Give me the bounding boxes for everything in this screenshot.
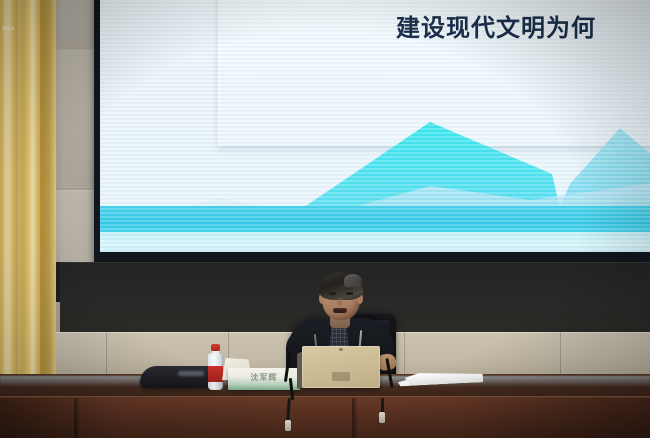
slide-title: 建设现代文明为何 — [396, 8, 596, 43]
laptop — [302, 346, 380, 390]
bottle-cap — [211, 344, 220, 351]
skirting-seam — [106, 332, 107, 378]
nose — [337, 297, 342, 305]
table-seam — [352, 398, 357, 438]
bottle-label-text: 饮用水 — [1, 26, 16, 32]
bottle-label — [208, 366, 223, 382]
screen-bottom-glow — [100, 246, 650, 252]
laptop-camera — [339, 348, 343, 351]
curtain-fold — [18, 0, 23, 438]
eye-left — [329, 292, 336, 295]
curtain-fold — [4, 0, 11, 438]
mouth — [333, 308, 347, 313]
projection-screen: 建设现代文明为何 — [100, 0, 650, 252]
cable-plug — [379, 412, 385, 423]
laptop-lid — [302, 346, 380, 388]
table-seam — [74, 398, 79, 438]
eyebrow-left — [328, 288, 336, 290]
eyebrow-right — [345, 288, 353, 290]
skirting-seam — [560, 332, 561, 378]
projection-screen-frame: 建设现代文明为何 — [94, 0, 650, 266]
conference-room-photo: 建设现代文明为何 饮用水 沈军辉 — [0, 0, 650, 438]
cable-plug — [285, 420, 291, 431]
laptop-logo — [332, 372, 350, 381]
bag-highlight — [178, 371, 204, 376]
table-front-shading — [0, 398, 650, 438]
curtain-fold — [31, 0, 37, 438]
eye-right — [346, 292, 353, 295]
hair-highlight — [344, 274, 362, 287]
skirting-seam — [404, 332, 405, 378]
water-bottle — [207, 344, 224, 390]
